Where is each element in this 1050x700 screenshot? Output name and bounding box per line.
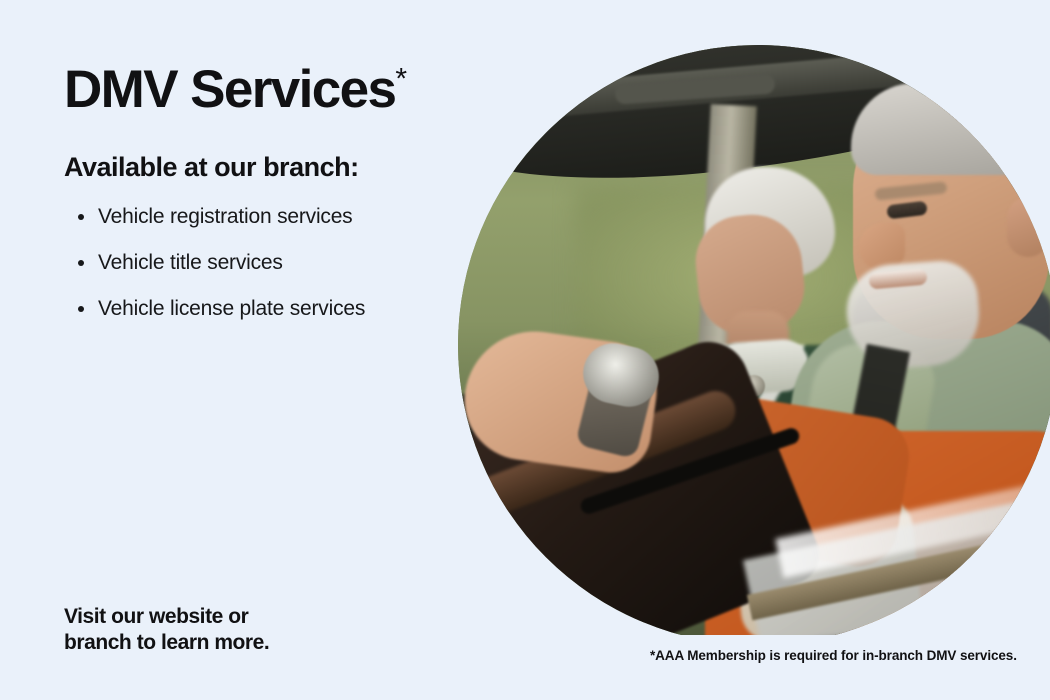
hero-photo	[455, 45, 1050, 635]
call-to-action-line-1: Visit our website or	[64, 605, 248, 628]
footnote-marker: *	[395, 62, 407, 95]
list-item: Vehicle title services	[98, 252, 365, 273]
bullet-icon	[78, 306, 84, 312]
dmv-services-banner: DMV Services* Available at our branch: V…	[0, 0, 1050, 700]
list-item: Vehicle registration services	[98, 206, 365, 227]
bullet-icon	[78, 214, 84, 220]
list-item-label: Vehicle license plate services	[98, 297, 365, 320]
legal-footnote: *AAA Membership is required for in-branc…	[650, 648, 1017, 663]
call-to-action: Visit our website or branch to learn mor…	[64, 604, 324, 655]
subheading: Available at our branch:	[64, 152, 359, 183]
list-item-label: Vehicle title services	[98, 251, 283, 274]
call-to-action-line-2: branch to learn more.	[64, 631, 269, 654]
page-title: DMV Services*	[64, 62, 407, 118]
photo-driver-ear	[1007, 197, 1049, 257]
photo-driver-hair	[851, 83, 1050, 175]
list-item-label: Vehicle registration services	[98, 205, 353, 228]
hero-photo-image	[455, 45, 1050, 635]
page-title-text: DMV Services	[64, 60, 395, 119]
hero-photo-mask	[455, 45, 1050, 635]
bullet-icon	[78, 260, 84, 266]
services-list: Vehicle registration services Vehicle ti…	[78, 206, 365, 344]
content-column: DMV Services* Available at our branch: V…	[64, 0, 464, 700]
list-item: Vehicle license plate services	[98, 298, 365, 319]
